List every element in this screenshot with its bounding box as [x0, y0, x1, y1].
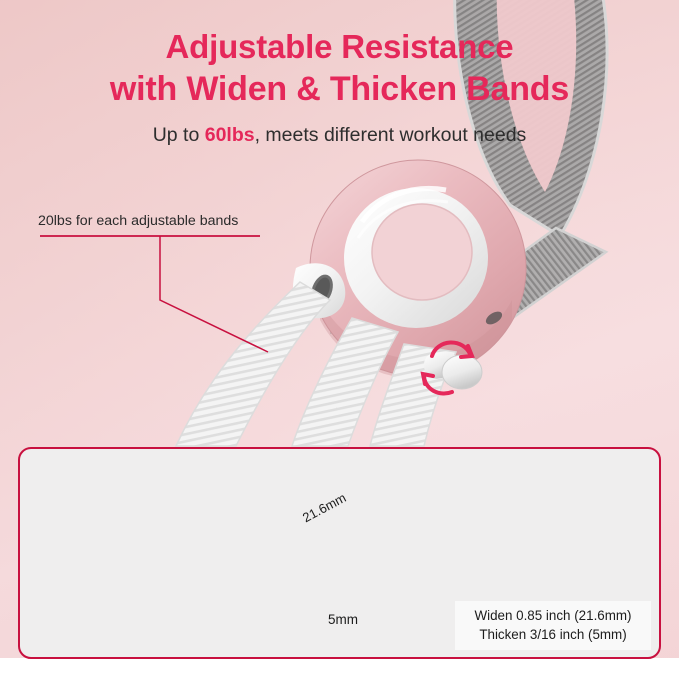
subtitle-suffix: , meets different workout needs [255, 124, 527, 146]
subtitle-emphasis: 60lbs [205, 124, 255, 146]
subtitle: Up to 60lbs, meets different workout nee… [0, 124, 679, 147]
bottom-white-strip [0, 658, 679, 679]
subtitle-prefix: Up to [153, 124, 205, 146]
spec-line-thicken: Thicken 3/16 inch (5mm) [463, 625, 643, 644]
headline-line-1: Adjustable Resistance [0, 26, 679, 68]
thickness-dimension-label: 5mm [328, 612, 358, 627]
spec-line-widen: Widen 0.85 inch (21.6mm) [463, 606, 643, 625]
product-infographic: Adjustable Resistance with Widen & Thick… [0, 0, 679, 679]
callout-leader-line [40, 236, 268, 352]
spec-callout-box: Widen 0.85 inch (21.6mm) Thicken 3/16 in… [455, 601, 651, 650]
page-title: Adjustable Resistance with Widen & Thick… [0, 26, 679, 111]
headline-line-2: with Widen & Thicken Bands [0, 68, 679, 111]
callout-label: 20lbs for each adjustable bands [38, 213, 238, 229]
